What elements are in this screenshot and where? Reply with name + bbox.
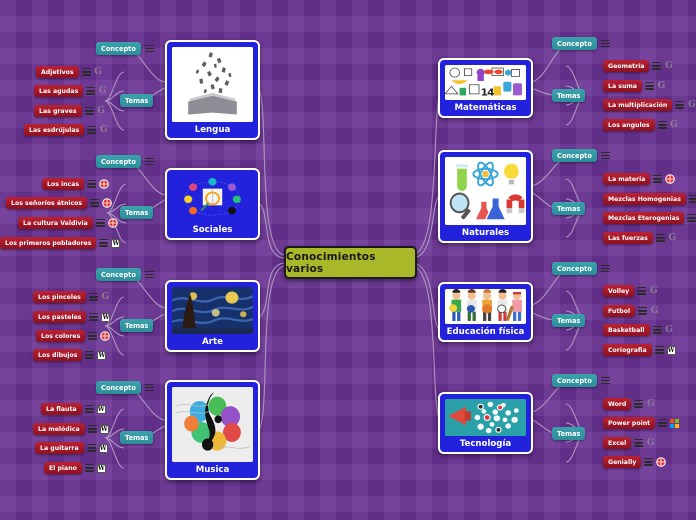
concept-label-lengua: Concepto: [96, 42, 141, 55]
list-item[interactable]: La cultura Valdivia: [18, 217, 118, 229]
leaf-label: Los primeros pobladores: [0, 237, 96, 249]
leaf-label: Las fuerzas: [603, 232, 653, 244]
concept-label-musica: Concepto: [96, 381, 141, 394]
list-item[interactable]: Los angulos G: [603, 119, 679, 131]
central-node[interactable]: Conocimientos varios: [284, 246, 417, 279]
list-item[interactable]: Las agudas G: [34, 85, 107, 97]
globe-link-icon[interactable]: [108, 218, 118, 228]
subject-node-musica[interactable]: Musica: [165, 380, 260, 480]
topics-label-arte: Temas: [120, 319, 153, 332]
topics-label-matematicas: Temas: [552, 89, 585, 102]
leaf-label: Los dibujos: [33, 349, 82, 361]
leaf-label: Los pinceles: [33, 291, 86, 303]
branch-concept-educacion-fisica[interactable]: Concepto: [552, 262, 610, 275]
leaf-label: Los angulos: [603, 119, 655, 131]
hamburger-icon[interactable]: [85, 351, 94, 359]
hamburger-icon[interactable]: [90, 199, 99, 207]
concept-label-naturales: Concepto: [552, 149, 597, 162]
list-item[interactable]: El piano W: [44, 462, 106, 474]
list-item[interactable]: Los incas: [42, 178, 109, 190]
subject-title-matematicas: Matemáticas: [454, 103, 516, 113]
subject-title-lengua: Lengua: [195, 125, 231, 135]
word-doc-icon[interactable]: W: [97, 351, 106, 360]
leaf-label: Futbol: [603, 305, 635, 317]
subject-title-musica: Musica: [196, 465, 230, 475]
hamburger-icon[interactable]: [656, 234, 665, 242]
leaf-label: Volley: [603, 285, 634, 297]
branch-concept-lengua[interactable]: Concepto: [96, 42, 154, 55]
hamburger-icon[interactable]: [645, 82, 654, 90]
google-doc-icon[interactable]: G: [99, 126, 108, 135]
branch-concept-musica[interactable]: Concepto: [96, 381, 154, 394]
google-doc-icon[interactable]: G: [646, 439, 655, 448]
hamburger-icon[interactable]: [89, 313, 98, 321]
google-doc-icon[interactable]: G: [98, 87, 107, 96]
hamburger-icon[interactable]: [658, 121, 667, 129]
list-item[interactable]: Word G: [603, 398, 655, 410]
leaf-label: Las graves: [34, 105, 82, 117]
microsoft-office-icon[interactable]: [670, 419, 679, 428]
list-item[interactable]: Volley G: [603, 285, 658, 297]
leaf-label: Adjetivos: [36, 66, 79, 78]
hamburger-icon[interactable]: [634, 400, 643, 408]
branch-concept-sociales[interactable]: Concepto: [96, 155, 154, 168]
matematicas-thumbnail: 14: [445, 65, 526, 100]
hamburger-icon[interactable]: [89, 293, 98, 301]
hamburger-icon[interactable]: [689, 195, 696, 203]
list-item[interactable]: La melódica W: [33, 423, 109, 435]
word-doc-icon[interactable]: W: [101, 313, 110, 322]
branch-topics-sociales[interactable]: Temas: [120, 206, 153, 219]
topics-label-educacion-fisica: Temas: [552, 314, 585, 327]
leaf-label: Los señoríos étnicos: [6, 197, 87, 209]
leaf-label: Genially: [603, 456, 641, 468]
arte-thumbnail: [172, 287, 253, 334]
topics-label-tecnologia: Temas: [552, 427, 585, 440]
list-item[interactable]: La guitarra W: [35, 442, 108, 454]
branch-topics-naturales[interactable]: Temas: [552, 202, 585, 215]
hamburger-icon[interactable]: [88, 332, 97, 340]
leaf-label: Las esdrújulas: [24, 124, 84, 136]
topics-label-sociales: Temas: [120, 206, 153, 219]
branch-concept-naturales[interactable]: Concepto: [552, 149, 610, 162]
list-item[interactable]: Mezclas Homogenias: [603, 193, 696, 205]
hamburger-icon[interactable]: [88, 425, 97, 433]
google-doc-icon[interactable]: G: [664, 62, 673, 71]
sociales-thumbnail: [172, 175, 253, 222]
list-item[interactable]: Los colores: [36, 330, 110, 342]
branch-concept-arte[interactable]: Concepto: [96, 268, 154, 281]
subject-node-tecnologia[interactable]: Tecnología: [438, 392, 533, 454]
branch-topics-arte[interactable]: Temas: [120, 319, 153, 332]
list-item[interactable]: Mezclas Eterogenias: [603, 212, 696, 224]
concept-label-sociales: Concepto: [96, 155, 141, 168]
hamburger-icon[interactable]: [655, 346, 664, 354]
google-doc-icon[interactable]: G: [650, 307, 659, 316]
leaf-label: Mezclas Homogenias: [603, 193, 686, 205]
hamburger-icon[interactable]: [85, 464, 94, 472]
naturales-thumbnail: [445, 157, 526, 225]
hamburger-icon[interactable]: [87, 444, 96, 452]
list-item[interactable]: Las esdrújulas G: [24, 124, 108, 136]
globe-link-icon[interactable]: [99, 179, 109, 189]
concept-label-educacion-fisica: Concepto: [552, 262, 597, 275]
google-doc-icon[interactable]: G: [665, 326, 674, 335]
hamburger-icon[interactable]: [638, 307, 647, 315]
list-item[interactable]: Los pinceles G: [33, 291, 110, 303]
hamburger-icon[interactable]: [658, 419, 667, 427]
subject-node-matematicas[interactable]: 14 Matemáticas: [438, 58, 533, 118]
word-doc-icon[interactable]: W: [97, 464, 106, 473]
leaf-label: La cultura Valdivia: [18, 217, 93, 229]
leaf-label: Los colores: [36, 330, 85, 342]
list-item[interactable]: Adjetivos G: [36, 66, 103, 78]
branch-topics-musica[interactable]: Temas: [120, 431, 153, 444]
educacion-fisica-thumbnail: [445, 289, 526, 324]
hamburger-icon[interactable]: [145, 158, 154, 166]
globe-link-icon[interactable]: [102, 198, 112, 208]
google-doc-icon[interactable]: G: [670, 121, 679, 130]
hamburger-icon[interactable]: [145, 271, 154, 279]
hamburger-icon[interactable]: [85, 107, 94, 115]
hamburger-icon[interactable]: [601, 40, 610, 48]
concept-label-arte: Concepto: [96, 268, 141, 281]
list-item[interactable]: La suma G: [603, 80, 666, 92]
google-doc-icon[interactable]: G: [97, 107, 106, 116]
leaf-label: La materia: [603, 173, 650, 185]
topics-label-lengua: Temas: [120, 94, 153, 107]
subject-node-educacion-fisica[interactable]: Educación física: [438, 282, 533, 342]
hamburger-icon[interactable]: [87, 126, 96, 134]
concept-label-tecnologia: Concepto: [552, 374, 597, 387]
hamburger-icon[interactable]: [96, 219, 105, 227]
hamburger-icon[interactable]: [85, 405, 94, 413]
word-doc-icon[interactable]: W: [667, 346, 676, 355]
subject-node-naturales[interactable]: Naturales: [438, 150, 533, 243]
leaf-label: Excel: [603, 437, 631, 449]
leaf-label: Power point: [603, 417, 655, 429]
list-item[interactable]: La materia: [603, 173, 675, 185]
lengua-thumbnail: [172, 47, 253, 122]
subject-node-lengua[interactable]: Lengua: [165, 40, 260, 140]
subject-title-educacion-fisica: Educación física: [447, 327, 525, 337]
subject-title-naturales: Naturales: [462, 228, 509, 238]
hamburger-icon[interactable]: [601, 377, 610, 385]
google-doc-icon[interactable]: G: [687, 101, 696, 110]
list-item[interactable]: Basketball G: [603, 324, 674, 336]
subject-node-arte[interactable]: Arte: [165, 280, 260, 352]
topics-label-musica: Temas: [120, 431, 153, 444]
list-item[interactable]: La multiplicación G: [603, 99, 696, 111]
list-item[interactable]: Los primeros pobladores W: [0, 237, 120, 249]
leaf-label: La suma: [603, 80, 642, 92]
google-doc-icon[interactable]: G: [649, 287, 658, 296]
hamburger-icon[interactable]: [652, 62, 661, 70]
subject-node-sociales[interactable]: Sociales: [165, 168, 260, 240]
list-item[interactable]: Los pasteles W: [33, 311, 110, 323]
list-item[interactable]: La flauta W: [41, 403, 106, 415]
word-doc-icon[interactable]: W: [111, 239, 120, 248]
list-item[interactable]: Excel G: [603, 437, 655, 449]
tecnologia-thumbnail: [445, 399, 526, 436]
list-item[interactable]: Genially: [603, 456, 666, 468]
list-item[interactable]: Los señoríos étnicos: [6, 197, 112, 209]
hamburger-icon[interactable]: [634, 439, 643, 447]
word-doc-icon[interactable]: W: [100, 425, 109, 434]
hamburger-icon[interactable]: [145, 45, 154, 53]
word-doc-icon[interactable]: W: [99, 444, 108, 453]
google-doc-icon[interactable]: G: [668, 234, 677, 243]
list-item[interactable]: Los dibujos W: [33, 349, 106, 361]
hamburger-icon[interactable]: [86, 87, 95, 95]
hamburger-icon[interactable]: [145, 384, 154, 392]
list-item[interactable]: Futbol G: [603, 305, 659, 317]
branch-concept-matematicas[interactable]: Concepto: [552, 37, 610, 50]
hamburger-icon[interactable]: [82, 68, 91, 76]
leaf-label: Los pasteles: [33, 311, 86, 323]
google-doc-icon[interactable]: G: [94, 68, 103, 77]
leaf-label: Los incas: [42, 178, 84, 190]
leaf-label: Coriografia: [603, 344, 652, 356]
leaf-label: Basketball: [603, 324, 650, 336]
list-item[interactable]: Las graves G: [34, 105, 106, 117]
google-doc-icon[interactable]: G: [101, 293, 110, 302]
leaf-label: La multiplicación: [603, 99, 672, 111]
svg-text:4: 4: [487, 88, 494, 99]
branch-topics-lengua[interactable]: Temas: [120, 94, 153, 107]
hamburger-icon[interactable]: [653, 175, 662, 183]
branch-topics-educacion-fisica[interactable]: Temas: [552, 314, 585, 327]
hamburger-icon[interactable]: [653, 326, 662, 334]
subject-title-arte: Arte: [202, 337, 223, 347]
subject-title-sociales: Sociales: [193, 225, 233, 235]
hamburger-icon[interactable]: [687, 214, 696, 222]
topics-label-naturales: Temas: [552, 202, 585, 215]
word-doc-icon[interactable]: W: [97, 405, 106, 414]
list-item[interactable]: Coriografia W: [603, 344, 676, 356]
list-item[interactable]: Las fuerzas G: [603, 232, 677, 244]
list-item[interactable]: Power point: [603, 417, 679, 429]
globe-link-icon[interactable]: [665, 174, 675, 184]
musica-thumbnail: [172, 387, 253, 462]
hamburger-icon[interactable]: [644, 458, 653, 466]
branch-concept-tecnologia[interactable]: Concepto: [552, 374, 610, 387]
hamburger-icon[interactable]: [637, 287, 646, 295]
globe-link-icon[interactable]: [656, 457, 666, 467]
leaf-label: Geometría: [603, 60, 649, 72]
subject-title-tecnologia: Tecnología: [460, 439, 511, 449]
branch-topics-tecnologia[interactable]: Temas: [552, 427, 585, 440]
leaf-label: El piano: [44, 462, 82, 474]
hamburger-icon[interactable]: [675, 101, 684, 109]
concept-label-matematicas: Concepto: [552, 37, 597, 50]
globe-link-icon[interactable]: [100, 331, 110, 341]
leaf-label: Mezclas Eterogenias: [603, 212, 684, 224]
leaf-label: La flauta: [41, 403, 82, 415]
hamburger-icon[interactable]: [601, 152, 610, 160]
hamburger-icon[interactable]: [87, 180, 96, 188]
branch-topics-matematicas[interactable]: Temas: [552, 89, 585, 102]
hamburger-icon[interactable]: [99, 239, 108, 247]
hamburger-icon[interactable]: [601, 265, 610, 273]
google-doc-icon[interactable]: G: [646, 400, 655, 409]
central-node-label: Conocimientos varios: [286, 251, 415, 275]
mindmap-canvas[interactable]: Conocimientos varios: [0, 0, 696, 520]
leaf-label: Word: [603, 398, 631, 410]
list-item[interactable]: Geometría G: [603, 60, 673, 72]
leaf-label: La melódica: [33, 423, 85, 435]
google-doc-icon[interactable]: G: [657, 82, 666, 91]
leaf-label: La guitarra: [35, 442, 84, 454]
leaf-label: Las agudas: [34, 85, 83, 97]
